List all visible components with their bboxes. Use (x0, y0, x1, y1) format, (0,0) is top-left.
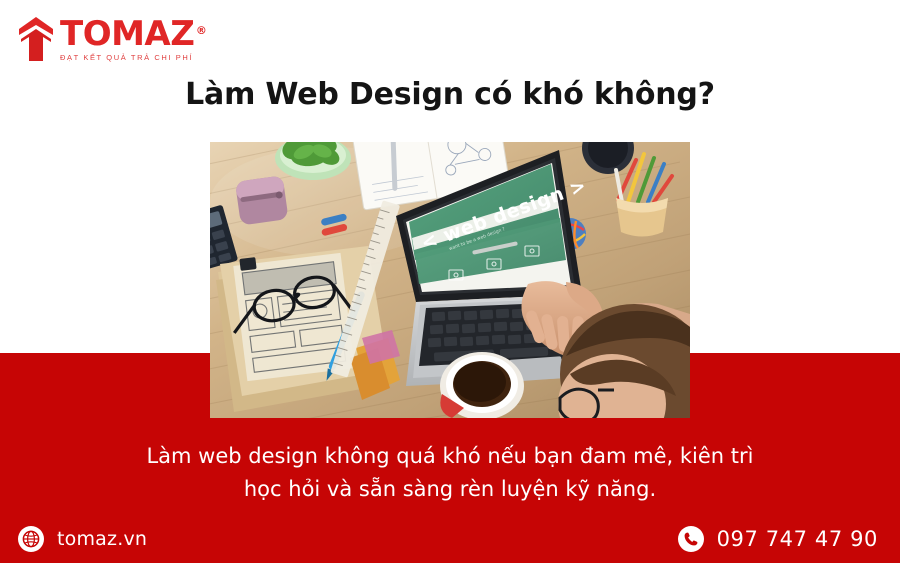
caption-line-1: Làm web design không quá khó nếu bạn đam… (60, 440, 840, 473)
brand-name-text: TOMAZ (60, 14, 194, 54)
brand-tagline: ĐẠT KẾT QUẢ TRẢ CHI PHÍ (60, 53, 194, 62)
caption-line-2: học hỏi và sẵn sàng rèn luyện kỹ năng. (60, 473, 840, 506)
caption-text: Làm web design không quá khó nếu bạn đam… (60, 440, 840, 506)
brand-wordmark: TOMAZ ® (60, 17, 194, 51)
promo-banner: TOMAZ ® ĐẠT KẾT QUẢ TRẢ CHI PHÍ Làm Web … (0, 0, 900, 563)
website-label: tomaz.vn (57, 528, 147, 550)
footer-website[interactable]: tomaz.vn (18, 522, 147, 556)
globe-icon (18, 526, 44, 552)
phone-label: 097 747 47 90 (717, 527, 878, 551)
brand-logo[interactable]: TOMAZ ® ĐẠT KẾT QUẢ TRẢ CHI PHÍ (18, 16, 194, 66)
hero-photo: < web design > want to be a web design ? (210, 142, 690, 418)
registered-mark-icon: ® (196, 14, 207, 48)
page-title: Làm Web Design có khó không? (0, 76, 900, 114)
footer-phone[interactable]: 097 747 47 90 (678, 522, 878, 556)
phone-icon (678, 526, 704, 552)
tomaz-arrow-icon (18, 16, 54, 64)
